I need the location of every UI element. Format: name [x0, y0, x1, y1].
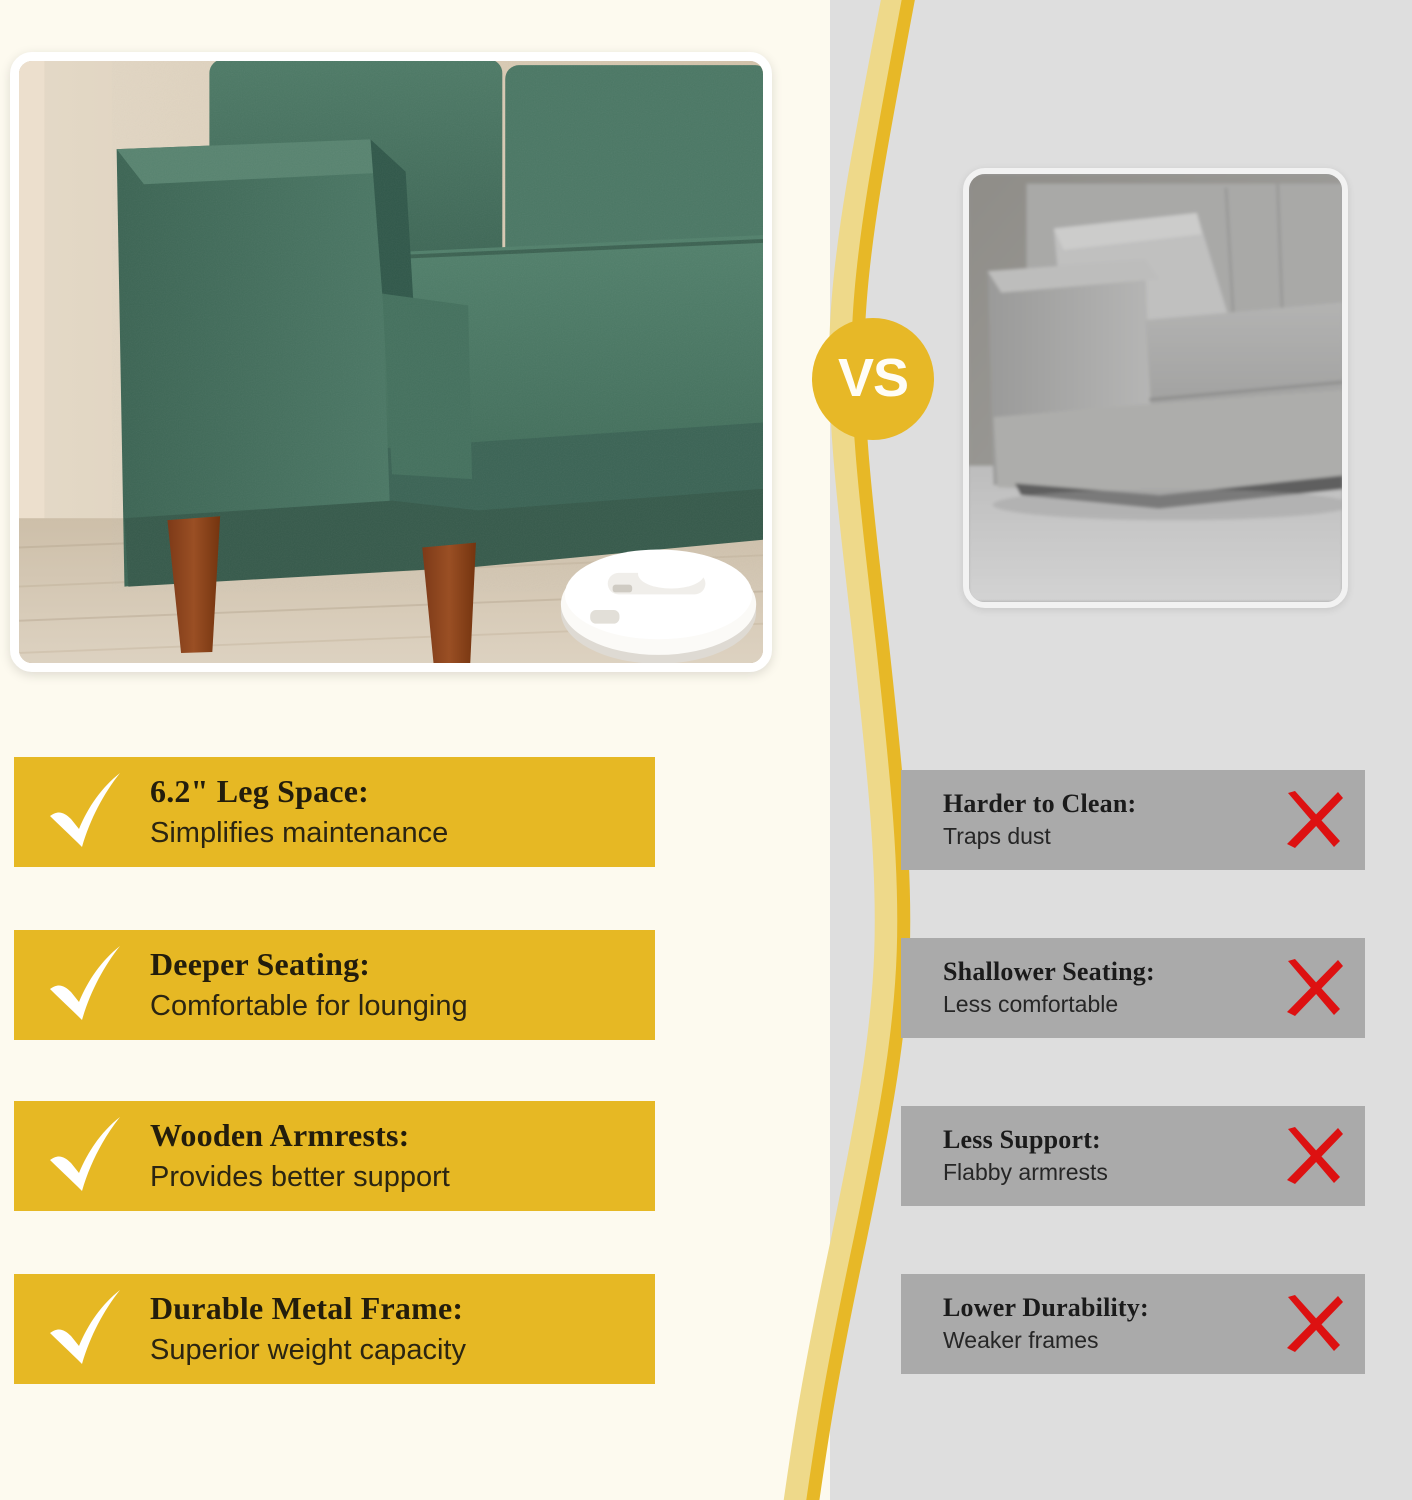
- pro-card: Wooden Armrests: Provides better support: [14, 1101, 655, 1211]
- pro-card: Durable Metal Frame: Superior weight cap…: [14, 1274, 655, 1384]
- con-text: Harder to Clean: Traps dust: [901, 790, 1273, 850]
- cross-icon: [1273, 957, 1365, 1019]
- con-card: Harder to Clean: Traps dust: [901, 770, 1365, 870]
- cross-icon: [1273, 789, 1365, 851]
- pro-subtitle: Superior weight capacity: [150, 1333, 466, 1368]
- con-card: Lower Durability: Weaker frames: [901, 1274, 1365, 1374]
- pro-card: 6.2" Leg Space: Simplifies maintenance: [14, 757, 655, 867]
- green-sofa-photo: [10, 52, 772, 672]
- pro-subtitle: Simplifies maintenance: [150, 816, 448, 851]
- con-subtitle: Traps dust: [943, 823, 1273, 851]
- con-card: Shallower Seating: Less comfortable: [901, 938, 1365, 1038]
- pro-subtitle: Comfortable for lounging: [150, 989, 468, 1024]
- check-icon: [32, 1286, 142, 1372]
- con-title: Shallower Seating:: [943, 958, 1273, 987]
- con-text: Lower Durability: Weaker frames: [901, 1294, 1273, 1354]
- pro-title: Deeper Seating:: [150, 947, 468, 983]
- con-title: Lower Durability:: [943, 1294, 1273, 1323]
- con-subtitle: Flabby armrests: [943, 1159, 1273, 1187]
- cross-icon: [1273, 1293, 1365, 1355]
- vs-badge: VS: [812, 318, 934, 440]
- pro-text: 6.2" Leg Space: Simplifies maintenance: [142, 774, 448, 851]
- con-subtitle: Less comfortable: [943, 991, 1273, 1019]
- check-icon: [32, 942, 142, 1028]
- con-title: Harder to Clean:: [943, 790, 1273, 819]
- pro-card: Deeper Seating: Comfortable for lounging: [14, 930, 655, 1040]
- con-text: Shallower Seating: Less comfortable: [901, 958, 1273, 1018]
- pro-text: Deeper Seating: Comfortable for lounging: [142, 947, 468, 1024]
- pro-title: 6.2" Leg Space:: [150, 774, 448, 810]
- pro-title: Wooden Armrests:: [150, 1118, 450, 1154]
- con-card: Less Support: Flabby armrests: [901, 1106, 1365, 1206]
- pro-text: Wooden Armrests: Provides better support: [142, 1118, 450, 1195]
- con-subtitle: Weaker frames: [943, 1327, 1273, 1355]
- pro-text: Durable Metal Frame: Superior weight cap…: [142, 1291, 466, 1368]
- con-title: Less Support:: [943, 1126, 1273, 1155]
- con-text: Less Support: Flabby armrests: [901, 1126, 1273, 1186]
- cross-icon: [1273, 1125, 1365, 1187]
- gray-sofa-photo: [963, 168, 1348, 608]
- pro-title: Durable Metal Frame:: [150, 1291, 466, 1327]
- check-icon: [32, 1113, 142, 1199]
- check-icon: [32, 769, 142, 855]
- pro-subtitle: Provides better support: [150, 1160, 450, 1195]
- vs-badge-label: VS: [838, 347, 908, 409]
